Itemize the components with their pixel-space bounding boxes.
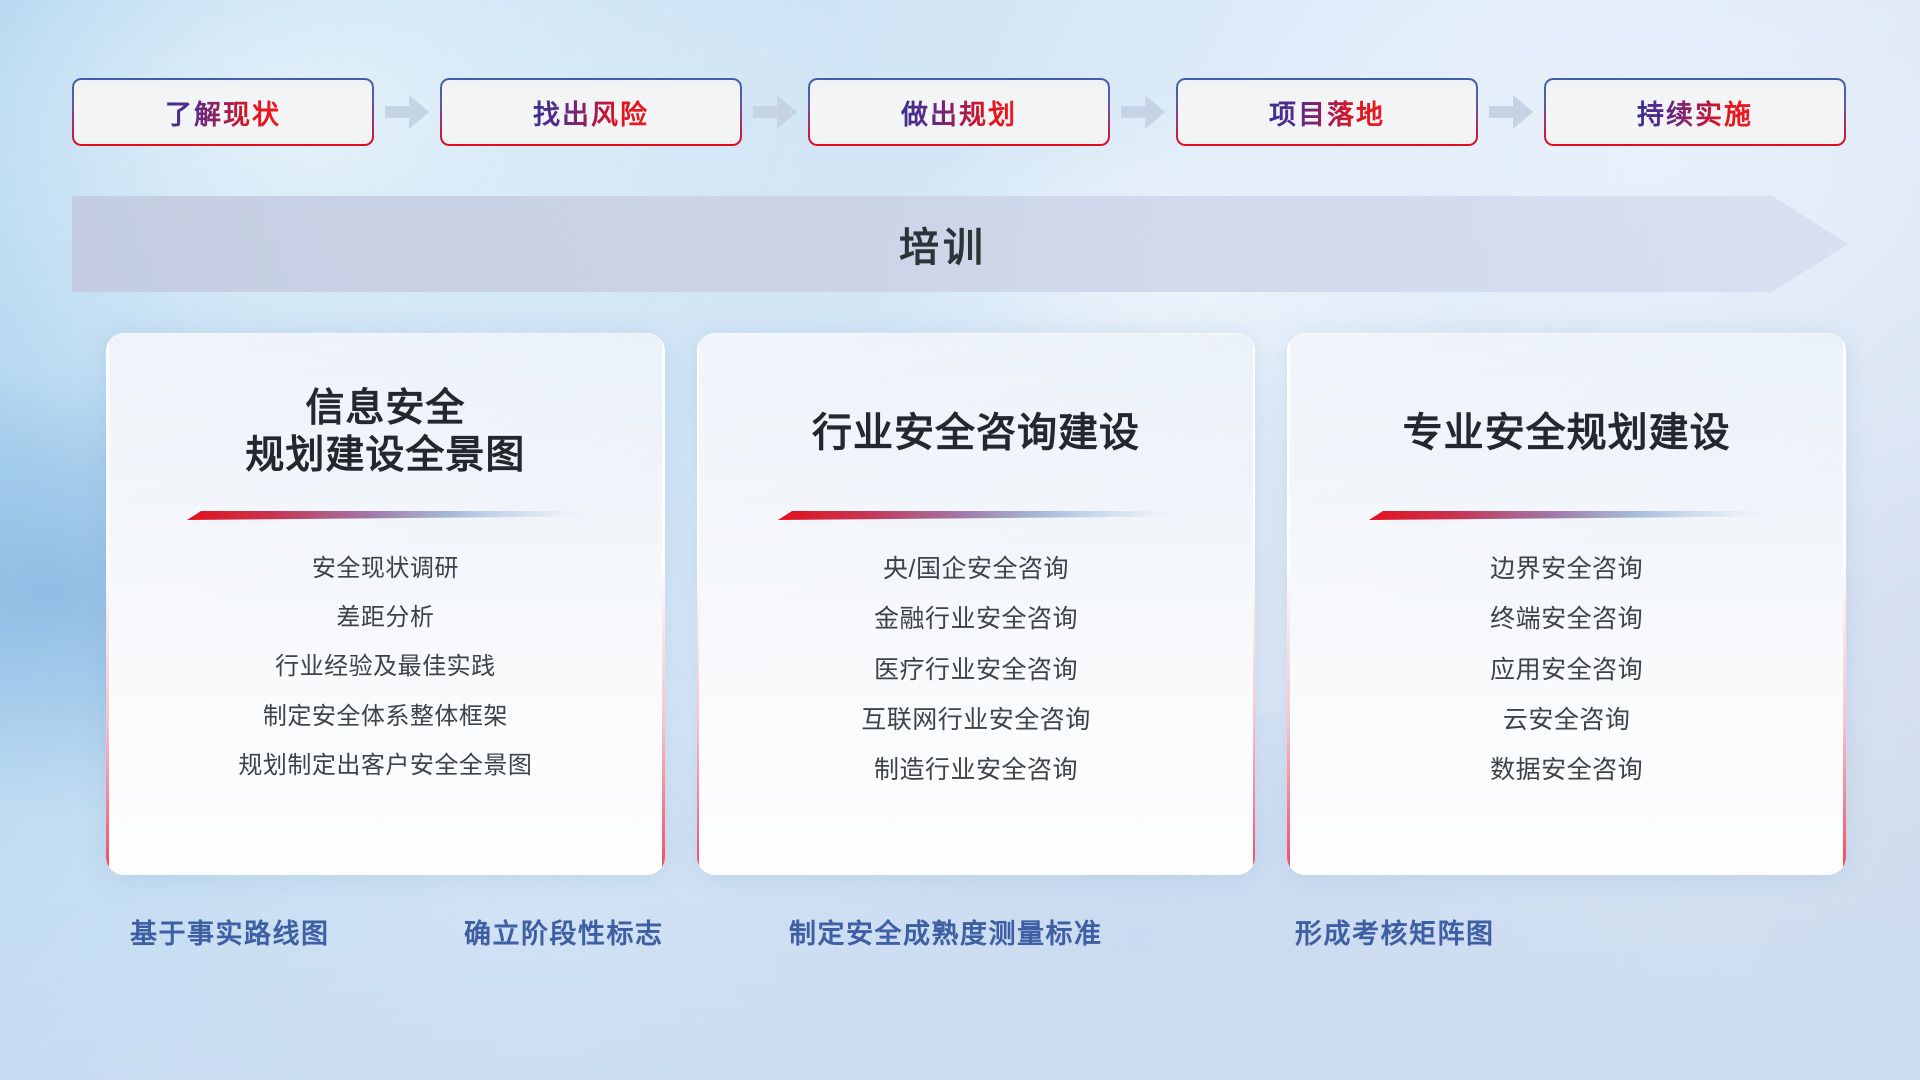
footer-label-1: 基于事实路线图	[130, 912, 330, 951]
footer-label-2: 确立阶段性标志	[464, 912, 664, 951]
card-3-right-edge	[1843, 333, 1846, 875]
gradient-divider-icon-3	[1367, 509, 1767, 522]
footer-label-4: 形成考核矩阵图	[1295, 912, 1495, 951]
list-item: 央/国企安全咨询	[731, 556, 1222, 582]
card-1-title: 信息安全 规划建设全景图	[245, 385, 525, 481]
card-3-left-edge	[1287, 333, 1290, 875]
step-box-3[interactable]: 做出规划	[808, 78, 1110, 146]
training-band: 培训	[72, 196, 1848, 292]
card-2[interactable]: 行业安全咨询建设	[697, 333, 1256, 875]
footer-label-3: 制定安全成熟度测量标准	[789, 912, 1103, 951]
list-item: 应用安全咨询	[1321, 657, 1812, 683]
step-box-2[interactable]: 找出风险	[440, 78, 742, 146]
step-box-1[interactable]: 了解现状	[72, 78, 374, 146]
arrow-right-icon-1	[374, 78, 440, 146]
card-1-title-line-2: 规划建设全景图	[245, 433, 525, 480]
cards-row: 信息安全 规划建设全景图	[106, 333, 1846, 875]
gradient-divider-icon-1	[185, 509, 585, 522]
list-item: 安全现状调研	[140, 556, 631, 581]
step-box-4[interactable]: 项目落地	[1176, 78, 1478, 146]
card-2-right-edge	[1253, 333, 1256, 875]
list-item: 云安全咨询	[1321, 707, 1812, 733]
card-3-list: 边界安全咨询 终端安全咨询 应用安全咨询 云安全咨询 数据安全咨询	[1321, 556, 1812, 783]
list-item: 制定安全体系整体框架	[140, 704, 631, 729]
card-1-title-line-1: 信息安全	[245, 386, 525, 433]
list-item: 行业经验及最佳实践	[140, 654, 631, 679]
list-item: 边界安全咨询	[1321, 556, 1812, 582]
training-label: 培训	[72, 196, 1848, 292]
list-item: 差距分析	[140, 605, 631, 630]
arrow-right-icon-3	[1110, 78, 1176, 146]
list-item: 医疗行业安全咨询	[731, 657, 1222, 683]
list-item: 数据安全咨询	[1321, 757, 1812, 783]
arrow-right-icon-2	[742, 78, 808, 146]
card-1-left-edge	[106, 333, 109, 875]
list-item: 终端安全咨询	[1321, 606, 1812, 632]
card-3[interactable]: 专业安全规划建设	[1287, 333, 1846, 875]
list-item: 互联网行业安全咨询	[731, 707, 1222, 733]
step-label-4: 项目落地	[1269, 93, 1385, 132]
process-step-strip: 了解现状 找出风险 做出规划 项目落地 持续实施	[72, 78, 1848, 146]
step-box-5[interactable]: 持续实施	[1544, 78, 1846, 146]
arrow-right-icon-4	[1478, 78, 1544, 146]
card-1-list: 安全现状调研 差距分析 行业经验及最佳实践 制定安全体系整体框架 规划制定出客户…	[140, 556, 631, 778]
step-label-1: 了解现状	[165, 93, 281, 132]
gradient-divider-icon-2	[776, 509, 1176, 522]
card-2-title: 行业安全咨询建设	[812, 385, 1140, 481]
card-2-title-line-1: 行业安全咨询建设	[812, 409, 1140, 457]
card-1-right-edge	[662, 333, 665, 875]
step-label-3: 做出规划	[901, 93, 1017, 132]
card-2-list: 央/国企安全咨询 金融行业安全咨询 医疗行业安全咨询 互联网行业安全咨询 制造行…	[731, 556, 1222, 783]
card-1[interactable]: 信息安全 规划建设全景图	[106, 333, 665, 875]
slide-stage: 了解现状 找出风险 做出规划 项目落地 持续实施	[0, 0, 1920, 1080]
card-3-title-line-1: 专业安全规划建设	[1403, 409, 1731, 457]
step-label-5: 持续实施	[1637, 93, 1753, 132]
list-item: 金融行业安全咨询	[731, 606, 1222, 632]
list-item: 规划制定出客户安全全景图	[140, 753, 631, 778]
footer-labels-row: 基于事实路线图 确立阶段性标志 制定安全成熟度测量标准 形成考核矩阵图	[0, 912, 1920, 958]
card-2-left-edge	[697, 333, 700, 875]
list-item: 制造行业安全咨询	[731, 757, 1222, 783]
card-3-title: 专业安全规划建设	[1403, 385, 1731, 481]
step-label-2: 找出风险	[533, 93, 649, 132]
